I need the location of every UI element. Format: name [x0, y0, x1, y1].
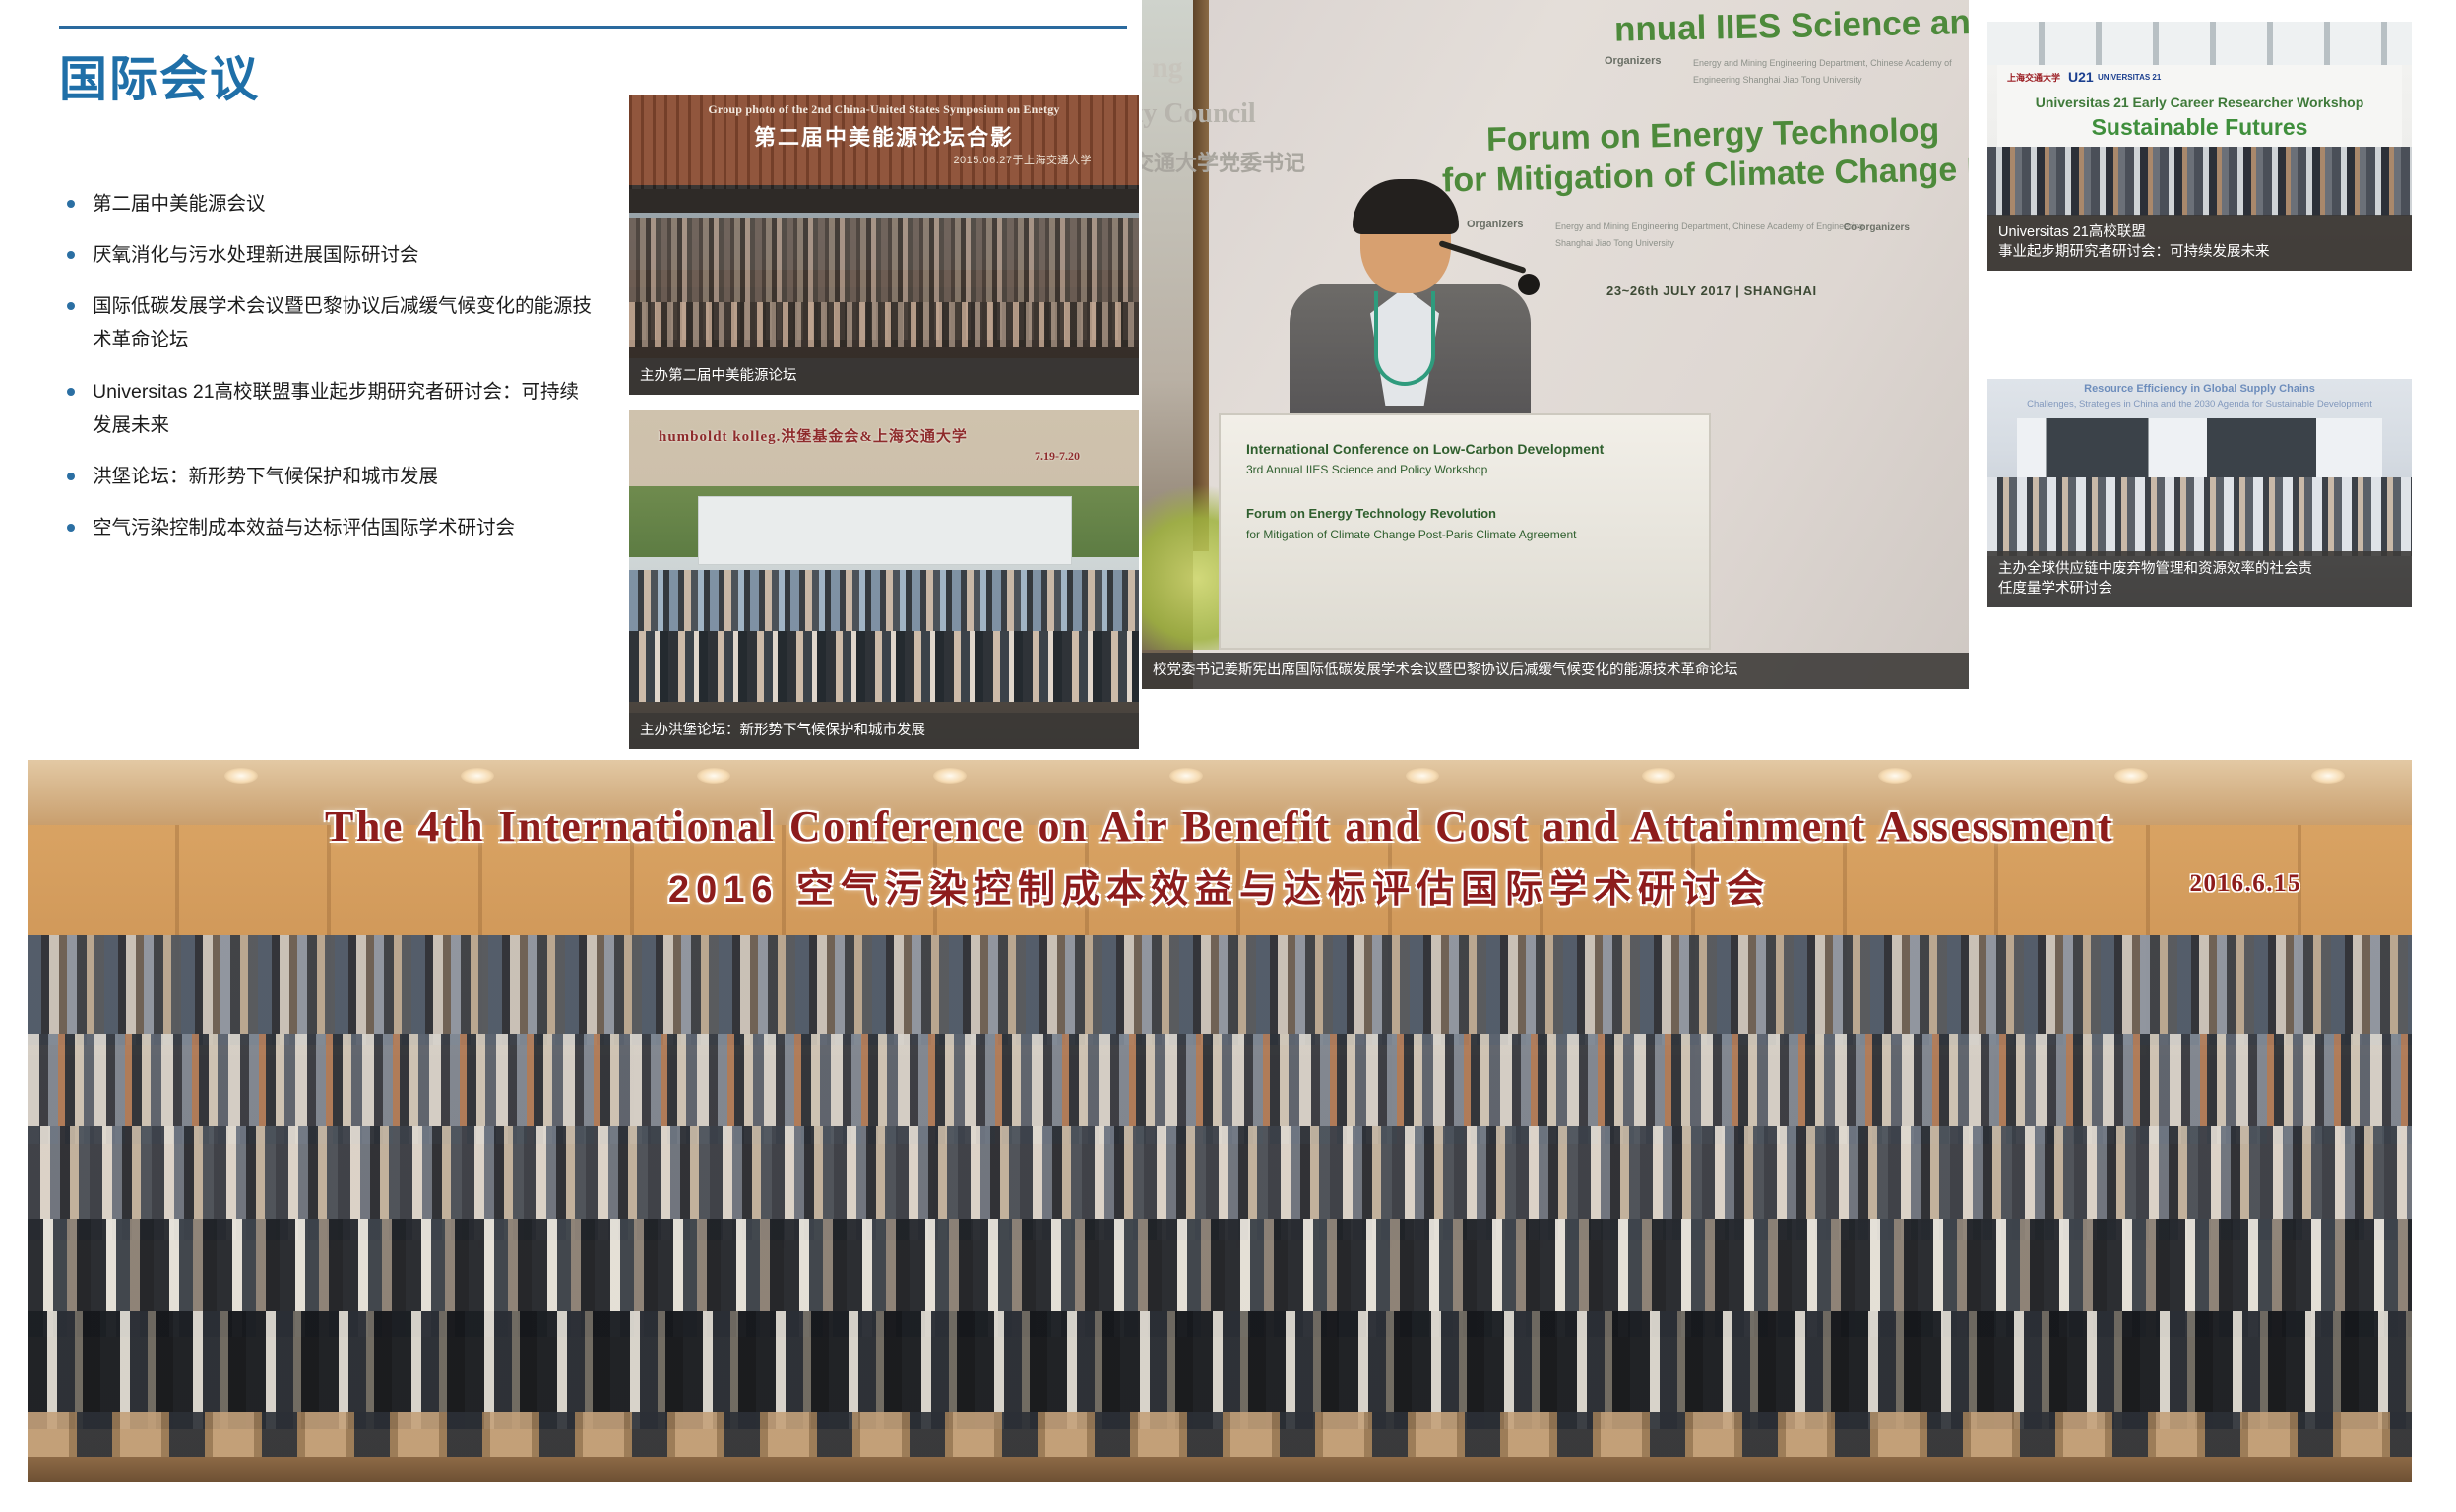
banner-date: 7.19-7.20: [1035, 449, 1080, 464]
list-item: 洪堡论坛：新形势下气候保护和城市发展: [61, 460, 593, 493]
microphone-head: [1518, 274, 1540, 295]
banner-text: humboldt kolleg.洪堡基金会&上海交通大学: [659, 425, 968, 446]
wall-frame: [1193, 0, 1209, 551]
podium-line-4: for Mitigation of Climate Change Post-Pa…: [1246, 528, 1576, 541]
u21-logo-subtitle: UNIVERSITAS 21: [2098, 73, 2161, 82]
backdrop-top-title: nnual IIES Science and Po: [1614, 1, 1969, 49]
banner-chinese-title: 第二届中美能源论坛合影: [629, 120, 1139, 152]
banner-english-title: Group photo of the 2nd China-United Stat…: [629, 102, 1139, 117]
photo-caption: 校党委书记姜斯宪出席国际低碳发展学术会议暨巴黎协议后减缓气候变化的能源技术革命论…: [1142, 653, 1969, 689]
banner-board: 上海交通大学 U21 UNIVERSITAS 21 Universitas 21…: [1997, 65, 2402, 156]
podium-line-2: 3rd Annual IIES Science and Policy Works…: [1246, 463, 1487, 476]
slide-root: 国际会议 第二届中美能源会议 厌氧消化与污水处理新进展国际研讨会 国际低碳发展学…: [0, 0, 2456, 1512]
backdrop-organizers-label: Organizers: [1467, 219, 1523, 230]
building-awnings: [1987, 22, 2412, 65]
banner-date: 2016.6.15: [2190, 870, 2302, 898]
speaker-lanyard: [1374, 291, 1435, 386]
photo-caption: 主办第二届中美能源论坛: [629, 358, 1139, 395]
page-title: 国际会议: [59, 54, 260, 107]
photo-caption: 主办全球供应链中废弃物管理和资源效率的社会责 任度量学术研讨会: [1987, 551, 2412, 607]
banner-english-title: The 4th International Conference on Air …: [28, 801, 2412, 851]
ceiling-lights: [28, 768, 2412, 789]
podium-panel: International Conference on Low-Carbon D…: [1219, 413, 1711, 650]
backdrop-date: 23~26th JULY 2017 | SHANGHAI: [1606, 283, 1817, 298]
stage-board: [698, 496, 1072, 565]
photo-caption: 主办洪堡论坛：新形势下气候保护和城市发展: [629, 713, 1139, 749]
backdrop-organizers-label-top: Organizers: [1605, 55, 1661, 67]
list-item: 国际低碳发展学术会议暨巴黎协议后减缓气候变化的能源技术革命论坛: [61, 289, 593, 356]
banner-line-1: Universitas 21 Early Career Researcher W…: [1997, 94, 2402, 110]
banner-line-1: Resource Efficiency in Global Supply Cha…: [1987, 383, 2412, 395]
backdrop-organizers-text: Energy and Mining Engineering Department…: [1555, 219, 1880, 252]
photo-abca-group: The 4th International Conference on Air …: [28, 760, 2412, 1482]
podium-line-1: International Conference on Low-Carbon D…: [1246, 441, 1604, 457]
banner-line-2: Sustainable Futures: [1997, 114, 2402, 141]
photo-u21-workshop: 上海交通大学 U21 UNIVERSITAS 21 Universitas 21…: [1987, 22, 2412, 271]
photo-speaker-podium: ng ty Council 交通大学党委书记 nnual IIES Scienc…: [1142, 0, 1969, 689]
u21-logo: U21: [2068, 69, 2094, 85]
projection-line-3: 交通大学党委书记: [1142, 146, 1305, 177]
photo-resource-efficiency: Resource Efficiency in Global Supply Cha…: [1987, 379, 2412, 607]
projection-line-2: ty Council: [1142, 98, 1256, 130]
sjtu-logo: 上海交通大学: [2007, 71, 2060, 84]
photo-china-us-symposium: Group photo of the 2nd China-United Stat…: [629, 94, 1139, 395]
floor: [28, 1457, 2412, 1482]
list-item: Universitas 21高校联盟事业起步期研究者研讨会：可持续发展未来: [61, 375, 593, 442]
photo-humboldt-kolleg: humboldt kolleg.洪堡基金会&上海交通大学 7.19-7.20 主…: [629, 409, 1139, 749]
backdrop-organizers-text-top: Energy and Mining Engineering Department…: [1693, 55, 1969, 89]
list-item: 空气污染控制成本效益与达标评估国际学术研讨会: [61, 511, 593, 544]
banner-chinese-title: 2016 空气污染控制成本效益与达标评估国际学术研讨会: [28, 858, 2412, 913]
crowd-rows: [1987, 477, 2412, 556]
crowd-front-row: [629, 302, 1139, 347]
banner-date: 2015.06.27于上海交通大学: [953, 152, 1092, 167]
header-rule: [59, 26, 1127, 29]
podium-line-3: Forum on Energy Technology Revolution: [1246, 506, 1496, 521]
photo-caption: Universitas 21高校联盟 事业起步期研究者研讨会：可持续发展未来: [1987, 215, 2412, 271]
crowd-back-row: [629, 570, 1139, 639]
crowd-front-row: [629, 631, 1139, 702]
projection-line-1: ng: [1152, 51, 1183, 85]
crowd-row: [28, 935, 2412, 1045]
crowd-rows: [1987, 147, 2412, 216]
list-item: 第二届中美能源会议: [61, 187, 593, 220]
list-item: 厌氧消化与污水处理新进展国际研讨会: [61, 238, 593, 272]
backdrop-coorganizers-label: Co-organizers: [1844, 222, 1910, 233]
conference-list: 第二届中美能源会议 厌氧消化与污水处理新进展国际研讨会 国际低碳发展学术会议暨巴…: [61, 187, 593, 562]
banner-line-2: Challenges, Strategies in China and the …: [1987, 399, 2412, 409]
